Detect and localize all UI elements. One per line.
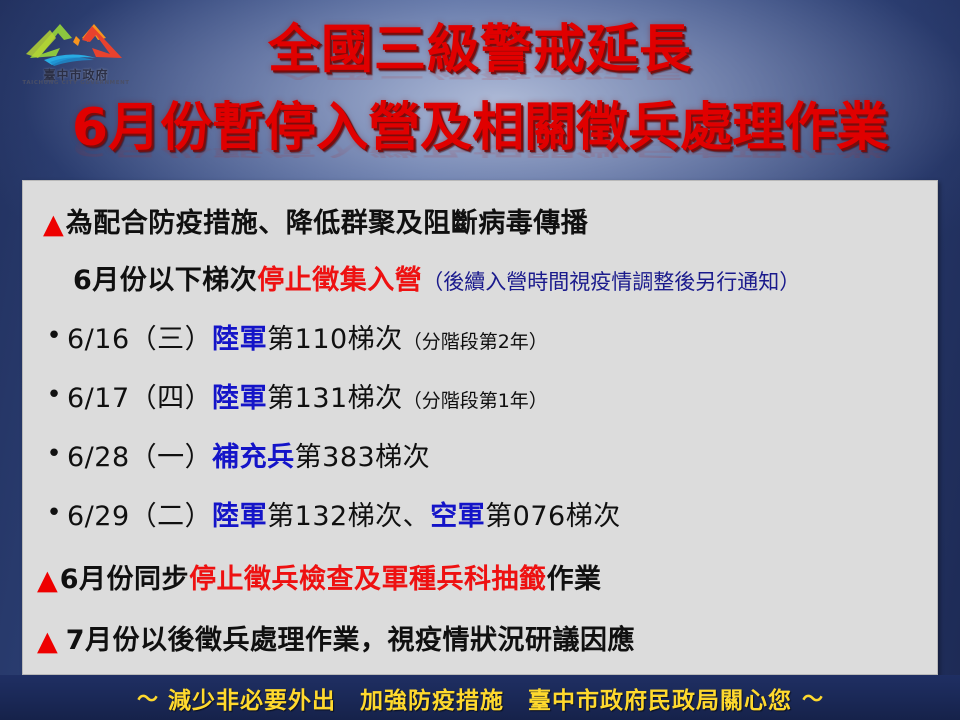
item-note: （分階段第1年） bbox=[403, 386, 548, 413]
item-batch: 第383梯次 bbox=[295, 435, 431, 474]
list-item: • 6/17 （四） 陸軍 第131梯次 （分階段第1年） bbox=[41, 376, 923, 415]
bullet-dot-icon: • bbox=[41, 323, 67, 349]
item-branch: 陸軍 bbox=[212, 376, 267, 415]
triangle-marker-icon: ▲ bbox=[37, 567, 58, 594]
item-date: 6/29 bbox=[67, 501, 130, 532]
notice-line-3-highlight: 停止徵兵檢查及軍種兵科抽籤 bbox=[189, 557, 547, 596]
content-panel: ▲ 為配合防疫措施、降低群聚及阻斷病毒傳播 6月份以下梯次 停止徵集入營 （後續… bbox=[22, 180, 938, 675]
item-batch: 第131梯次 bbox=[267, 376, 403, 415]
poster-canvas: 臺中市政府 TAICHUNG CITY GOVERNMENT 全國三級警戒延長 … bbox=[0, 0, 960, 720]
bullet-dot-icon: • bbox=[41, 500, 67, 526]
item-date: 6/16 bbox=[67, 324, 130, 355]
logo-name-en: TAICHUNG CITY GOVERNMENT bbox=[17, 80, 135, 86]
item-weekday: （一） bbox=[130, 435, 213, 474]
notice-line-2-prefix: 6月份以下梯次 bbox=[73, 258, 257, 297]
footer-tilde-right: ～ bbox=[792, 683, 833, 713]
footer-tilde-left: ～ bbox=[127, 683, 168, 713]
list-item: • 6/29 （二） 陸軍 第132梯次、 空軍 第076梯次 bbox=[41, 494, 923, 533]
item-date: 6/17 bbox=[67, 383, 130, 414]
list-item: • 6/16 （三） 陸軍 第110梯次 （分階段第2年） bbox=[41, 317, 923, 356]
notice-line-3-prefix: 6月份同步 bbox=[60, 557, 189, 596]
item-branch: 陸軍 bbox=[212, 494, 267, 533]
item-branch-secondary: 空軍 bbox=[430, 494, 485, 533]
notice-line-2-highlight: 停止徵集入營 bbox=[257, 258, 422, 297]
item-weekday: （二） bbox=[130, 494, 213, 533]
item-batch: 第110梯次 bbox=[267, 317, 403, 356]
title-line2-wrap: 6月份暫停入營及相關徵兵處理作業 bbox=[0, 102, 960, 154]
item-weekday: （三） bbox=[130, 317, 213, 356]
item-date: 6/28 bbox=[67, 442, 130, 473]
bullet-dot-icon: • bbox=[41, 382, 67, 408]
title-line1-wrap: 全國三級警戒延長 bbox=[0, 24, 960, 76]
triangle-marker-icon: ▲ bbox=[43, 211, 64, 238]
item-batch: 第132梯次、 bbox=[267, 494, 430, 533]
notice-line-2-note: （後續入營時間視疫情調整後另行通知） bbox=[422, 266, 800, 296]
notice-line-4: ▲ 7月份以後徵兵處理作業，視疫情狀況研議因應 bbox=[37, 618, 923, 657]
item-note: （分階段第2年） bbox=[403, 327, 548, 354]
page-title-line1: 全國三級警戒延長 bbox=[268, 20, 692, 80]
triangle-marker-icon: ▲ bbox=[37, 628, 58, 655]
notice-line-2: 6月份以下梯次 停止徵集入營 （後續入營時間視疫情調整後另行通知） bbox=[73, 258, 923, 297]
footer-bar: ～ 減少非必要外出 加強防疫措施 臺中市政府民政局關心您 ～ bbox=[0, 675, 960, 720]
item-weekday: （四） bbox=[130, 376, 213, 415]
page-title-line2: 6月份暫停入營及相關徵兵處理作業 bbox=[72, 98, 888, 158]
notice-line-1-text: 為配合防疫措施、降低群聚及阻斷病毒傳播 bbox=[66, 201, 589, 240]
item-branch: 陸軍 bbox=[212, 317, 267, 356]
notice-line-3-suffix: 作業 bbox=[547, 557, 602, 596]
notice-line-3: ▲ 6月份同步 停止徵兵檢查及軍種兵科抽籤 作業 bbox=[37, 557, 923, 596]
item-batch-secondary: 第076梯次 bbox=[485, 494, 621, 533]
item-branch: 補充兵 bbox=[212, 435, 295, 474]
notice-line-4-text: 7月份以後徵兵處理作業，視疫情狀況研議因應 bbox=[66, 618, 635, 657]
footer-text: 減少非必要外出 加強防疫措施 臺中市政府民政局關心您 bbox=[168, 681, 792, 715]
bullet-dot-icon: • bbox=[41, 441, 67, 467]
notice-line-1: ▲ 為配合防疫措施、降低群聚及阻斷病毒傳播 bbox=[43, 201, 923, 240]
list-item: • 6/28 （一） 補充兵 第383梯次 bbox=[41, 435, 923, 474]
